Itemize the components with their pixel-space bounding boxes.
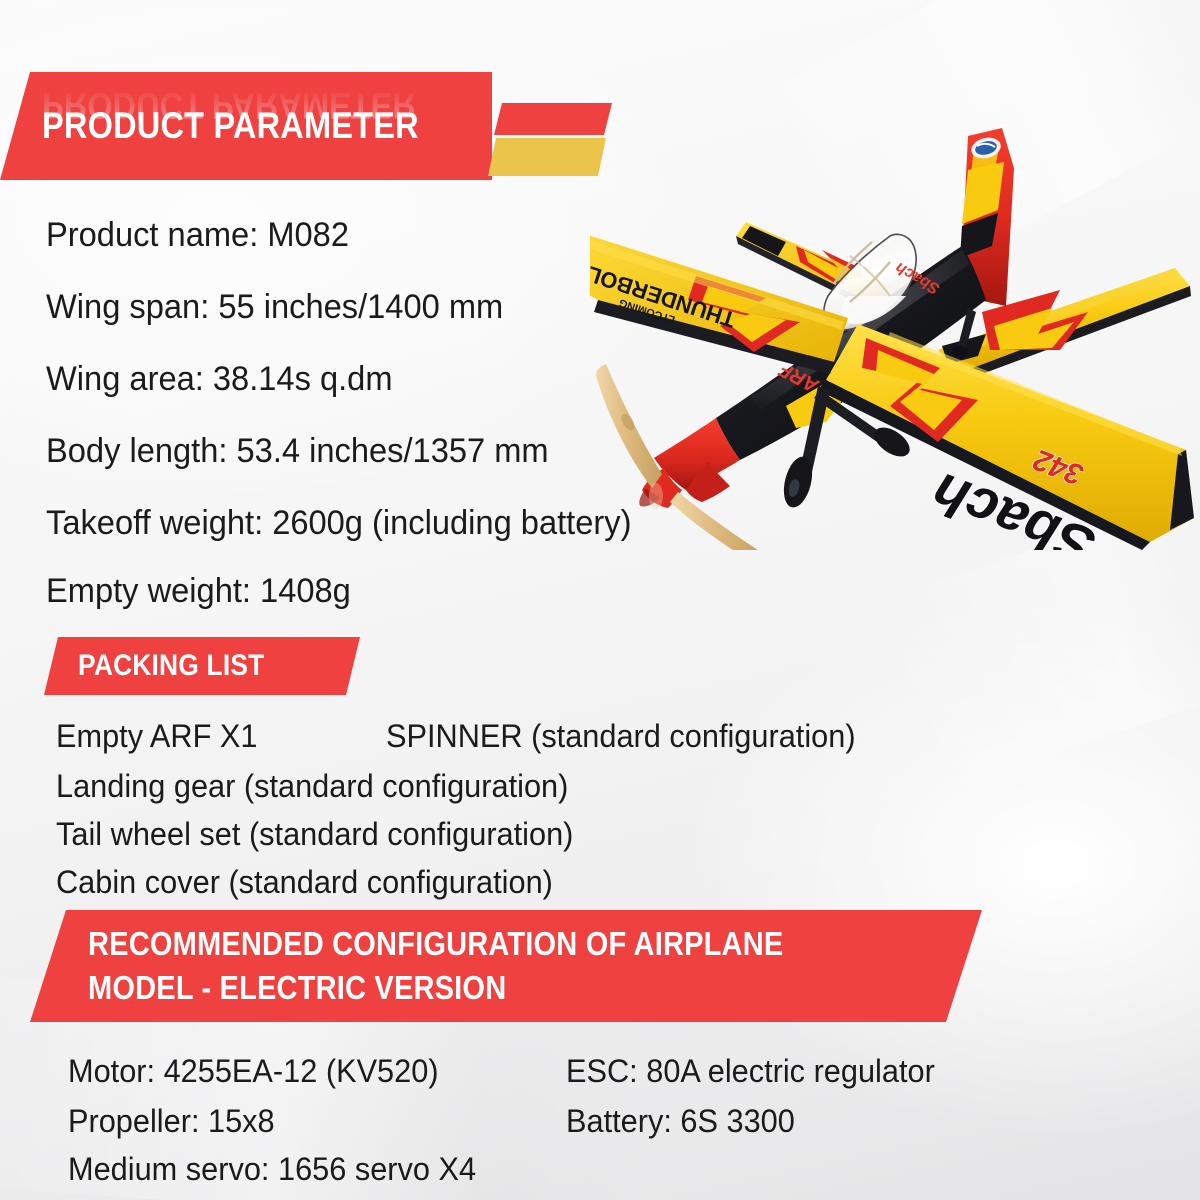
config-battery: Battery: 6S 3300 [566, 1103, 795, 1140]
packing-item-cabin-cover: Cabin cover (standard configuration) [56, 864, 553, 901]
packing-list-title: PACKING LIST [78, 650, 264, 681]
section-header-recommended-configuration: RECOMMENDED CONFIGURATION OF AIRPLANE MO… [30, 910, 982, 1022]
accent-stripe-red [494, 103, 612, 135]
config-motor: Motor: 4255EA-12 (KV520) [68, 1053, 439, 1090]
section-header-packing-list: PACKING LIST [44, 637, 360, 695]
spec-body-length: Body length: 53.4 inches/1357 mm [46, 432, 549, 471]
spec-wing-area: Wing area: 38.14s q.dm [46, 360, 393, 399]
section-header-product-parameter: PRODUCT PARAMETER [0, 72, 492, 180]
packing-item-tail-wheel: Tail wheel set (standard configuration) [56, 816, 573, 853]
spec-takeoff-weight: Takeoff weight: 2600g (including battery… [46, 504, 631, 543]
packing-item-spinner: SPINNER (standard configuration) [386, 718, 856, 755]
spec-product-name: Product name: M082 [46, 216, 349, 255]
packing-item-arf: Empty ARF X1 [56, 718, 257, 755]
product-photo-airplane: Sbach 342 THUNDERBOLT LYCOMING ARF Sbach [590, 50, 1200, 550]
spec-wing-span: Wing span: 55 inches/1400 mm [46, 288, 503, 327]
packing-item-landing-gear: Landing gear (standard configuration) [56, 768, 568, 805]
spec-empty-weight: Empty weight: 1408g [46, 572, 351, 611]
recommended-config-title: RECOMMENDED CONFIGURATION OF AIRPLANE MO… [88, 922, 783, 1009]
accent-stripe-yellow [488, 138, 606, 176]
product-spec-page: Sbach 342 THUNDERBOLT LYCOMING ARF Sbach [0, 0, 1200, 1200]
page-title: PRODUCT PARAMETER [42, 107, 419, 145]
plane-wing-far: THUNDERBOLT LYCOMING [590, 226, 848, 374]
config-servo: Medium servo: 1656 servo X4 [68, 1151, 476, 1188]
config-propeller: Propeller: 15x8 [68, 1103, 275, 1140]
config-esc: ESC: 80A electric regulator [566, 1053, 935, 1090]
